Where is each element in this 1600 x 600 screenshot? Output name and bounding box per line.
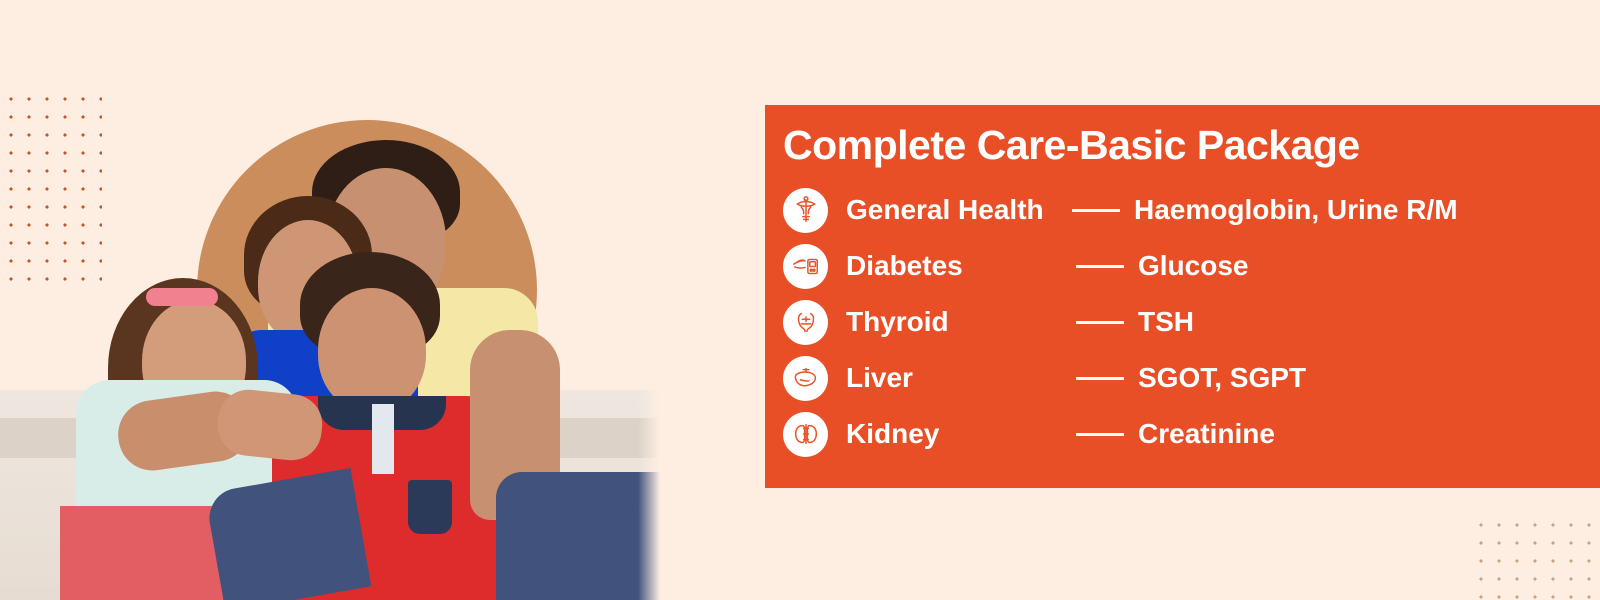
service-label-general-health: General Health bbox=[846, 194, 1074, 226]
photo-edge-fade bbox=[638, 0, 660, 600]
boy-chest-badge bbox=[408, 480, 452, 534]
kidney-icon bbox=[783, 412, 828, 457]
service-value-general-health: Haemoglobin, Urine R/M bbox=[1134, 194, 1458, 226]
service-label-liver: Liver bbox=[846, 362, 1076, 394]
thyroid-icon bbox=[783, 300, 828, 345]
jeans-right bbox=[496, 472, 660, 600]
banner-root: Complete Care-Basic Package bbox=[0, 0, 1600, 600]
service-label-kidney: Kidney bbox=[846, 418, 1076, 450]
service-dash bbox=[1076, 433, 1124, 436]
service-dash bbox=[1072, 209, 1120, 212]
service-value-kidney: Creatinine bbox=[1138, 418, 1275, 450]
service-label-diabetes: Diabetes bbox=[846, 250, 1076, 282]
boy-placket bbox=[372, 404, 394, 474]
service-row-diabetes: Diabetes Glucose bbox=[783, 238, 1600, 294]
service-label-thyroid: Thyroid bbox=[846, 306, 1076, 338]
package-panel: Complete Care-Basic Package bbox=[765, 105, 1600, 488]
dot-pattern-right bbox=[1468, 512, 1600, 600]
service-value-thyroid: TSH bbox=[1138, 306, 1194, 338]
service-dash bbox=[1076, 321, 1124, 324]
service-list: General Health Haemoglobin, Urine R/M bbox=[783, 182, 1600, 462]
family-photo-block bbox=[0, 0, 660, 600]
liver-icon bbox=[783, 356, 828, 401]
service-dash bbox=[1076, 377, 1124, 380]
package-title: Complete Care-Basic Package bbox=[783, 123, 1600, 168]
girl-headband bbox=[146, 288, 218, 306]
service-dash bbox=[1076, 265, 1124, 268]
family-photo bbox=[0, 0, 660, 600]
service-value-diabetes: Glucose bbox=[1138, 250, 1248, 282]
boy-head bbox=[318, 288, 426, 412]
service-row-kidney: Kidney Creatinine bbox=[783, 406, 1600, 462]
service-row-liver: Liver SGOT, SGPT bbox=[783, 350, 1600, 406]
service-value-liver: SGOT, SGPT bbox=[1138, 362, 1306, 394]
service-row-general-health: General Health Haemoglobin, Urine R/M bbox=[783, 182, 1600, 238]
glucometer-icon bbox=[783, 244, 828, 289]
service-row-thyroid: Thyroid TSH bbox=[783, 294, 1600, 350]
caduceus-icon bbox=[783, 188, 828, 233]
